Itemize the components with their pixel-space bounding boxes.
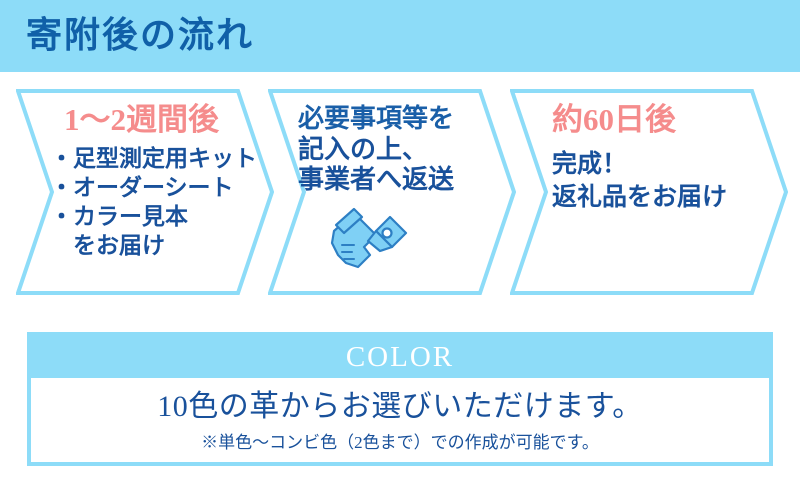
step-1-heading: 1〜2週間後	[64, 102, 219, 138]
color-note-text: ※単色〜コンビ色（2色まで）での作成が可能です。	[31, 432, 769, 454]
step-3-heading: 約60日後	[552, 102, 676, 138]
step-2-lines: 記入の上、 事業者へ返送	[298, 135, 454, 195]
step-2-line-1: 記入の上、	[298, 135, 454, 165]
process-step-1: 1〜2週間後 ・足型測定用キット ・オーダーシート ・カラー見本 をお届け	[16, 88, 274, 296]
color-section: COLOR 10色の革からお選びいただけます。 ※単色〜コンビ色（2色まで）での…	[27, 332, 773, 466]
color-main-text: 10色の革からお選びいただけます。	[31, 390, 769, 424]
step-2-heading: 必要事項等を	[298, 104, 454, 134]
step-3-lines: 完成！ 返礼品をお届け	[552, 148, 727, 214]
step-3-line-2: 返礼品をお届け	[552, 181, 727, 214]
step-1-lines: ・足型測定用キット ・オーダーシート ・カラー見本 をお届け	[50, 144, 257, 260]
page-title: 寄附後の流れ	[26, 9, 254, 61]
process-step-2: 必要事項等を 記入の上、 事業者へ返送	[268, 88, 516, 296]
color-banner-label: COLOR	[346, 341, 454, 373]
step-3-line-1: 完成！	[552, 148, 727, 181]
hand-writing-pen-icon	[324, 201, 420, 282]
step-1-line-4: をお届け	[50, 231, 257, 260]
step-1-line-2: ・オーダーシート	[50, 173, 257, 202]
step-2-line-2: 事業者へ返送	[298, 165, 454, 195]
header-band: 寄附後の流れ	[0, 0, 800, 72]
step-1-line-1: ・足型測定用キット	[50, 144, 257, 173]
color-banner: COLOR	[31, 336, 769, 378]
process-step-3: 約60日後 完成！ 返礼品をお届け	[510, 88, 788, 296]
step-1-line-3: ・カラー見本	[50, 202, 257, 231]
process-steps: 1〜2週間後 ・足型測定用キット ・オーダーシート ・カラー見本 をお届け 必要…	[0, 88, 800, 300]
